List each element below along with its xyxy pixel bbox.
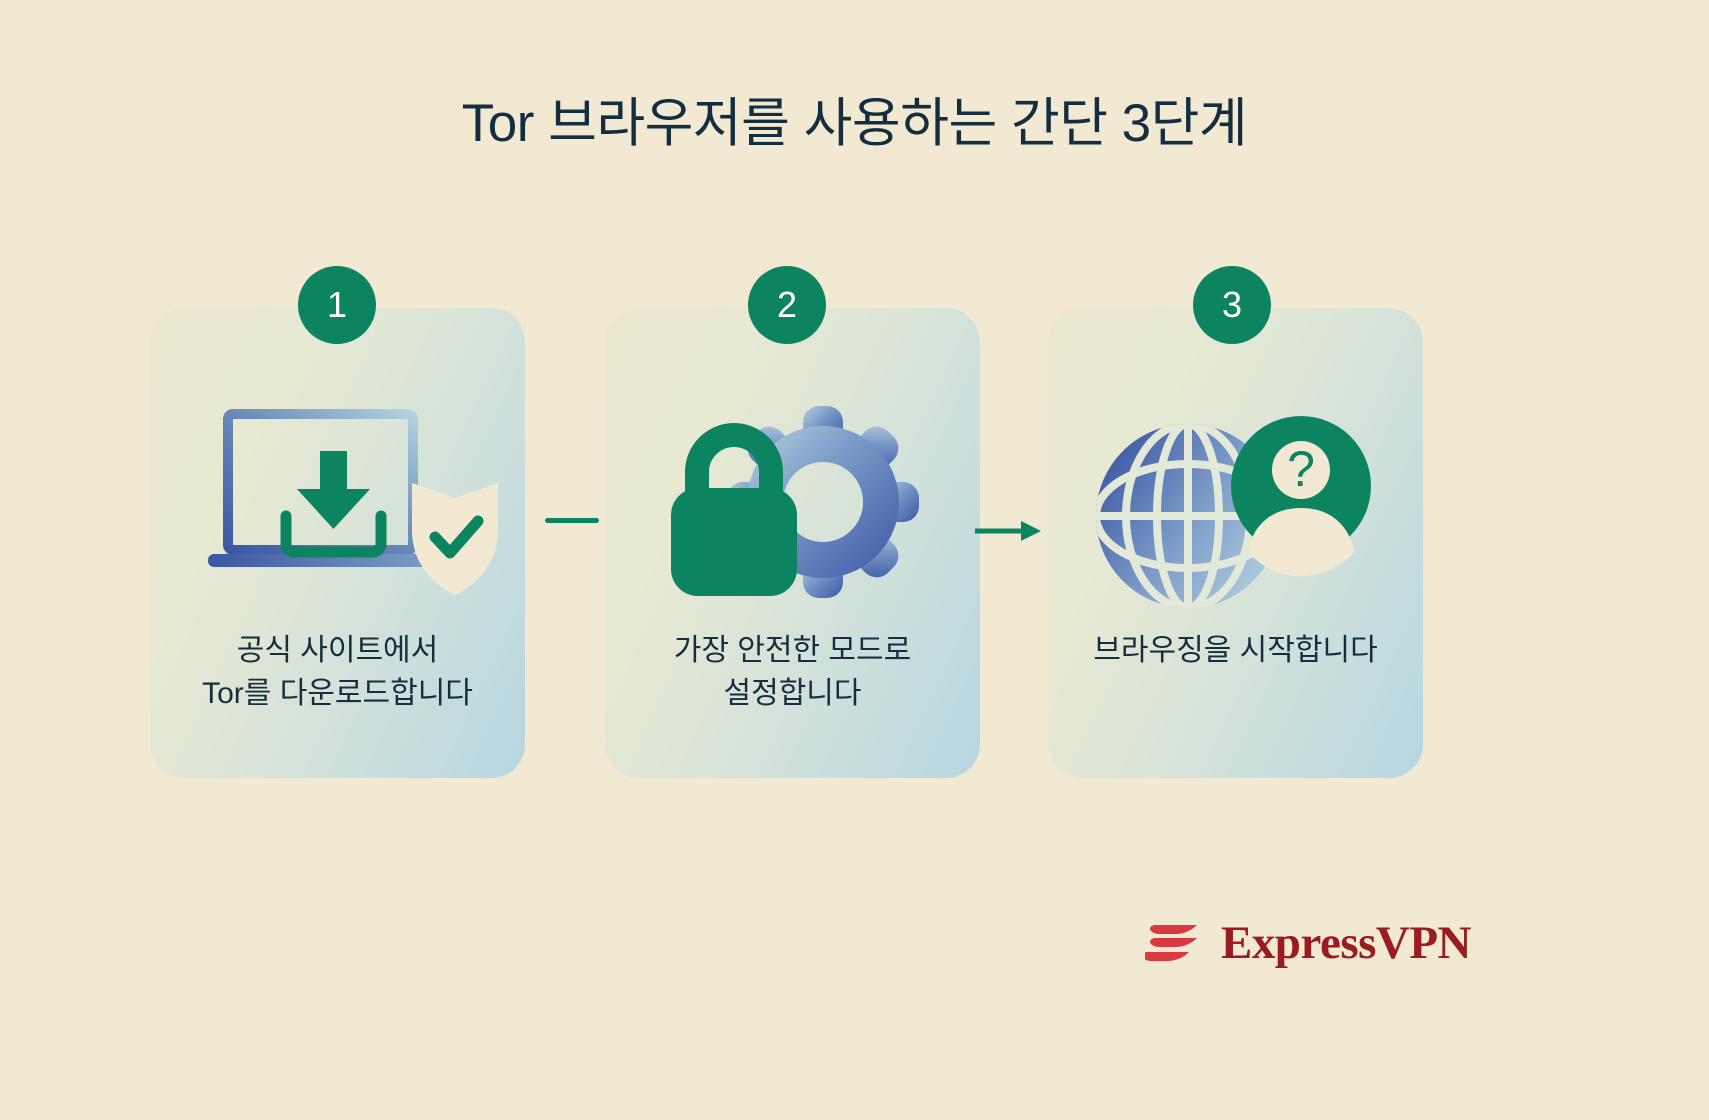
padlock-icon [671,435,797,596]
expressvpn-logo-mark [1145,918,1207,968]
lock-gear-icon [605,376,980,644]
step-number-badge-3: 3 [1193,266,1271,344]
expressvpn-logo: ExpressVPN [1145,918,1471,968]
step-1-caption-line2: Tor를 다운로드합니다 [168,673,507,716]
step-2-caption: 가장 안전한 모드로 설정합니다 [605,630,980,715]
step-1-caption-line1: 공식 사이트에서 [168,630,507,673]
step-3-illustration: ? [1048,376,1423,644]
expressvpn-wordmark: ExpressVPN [1221,920,1471,967]
step-3-caption: 브라우징을 시작합니다 [1048,630,1423,673]
step-1-caption: 공식 사이트에서 Tor를 다운로드합니다 [150,630,525,715]
page-title: Tor 브라우저를 사용하는 간단 3단계 [0,92,1709,156]
step-2-caption-line1: 가장 안전한 모드로 [623,630,962,673]
step-card-3: 3 [1048,308,1423,778]
step-1-illustration [150,376,525,644]
arrow-connector [975,518,1045,544]
step-3-caption-line1: 브라우징을 시작합니다 [1066,630,1405,673]
steps-container: 1 [0,308,1709,788]
step-2-caption-line2: 설정합니다 [623,673,962,716]
download-arrow-icon [286,451,381,552]
step-card-1: 1 [150,308,525,778]
shield-check-icon [412,483,498,595]
dash-connector [545,518,599,523]
step-2-illustration [605,376,980,644]
question-mark-icon: ? [1287,441,1315,497]
step-card-2: 2 [605,308,980,778]
laptop-download-shield-icon [150,376,525,644]
step-number-badge-2: 2 [748,266,826,344]
step-number-badge-1: 1 [298,266,376,344]
anonymous-user-icon: ? [1231,416,1371,576]
globe-anonymous-user-icon: ? [1048,376,1423,644]
arrow-right-icon [975,518,1045,544]
